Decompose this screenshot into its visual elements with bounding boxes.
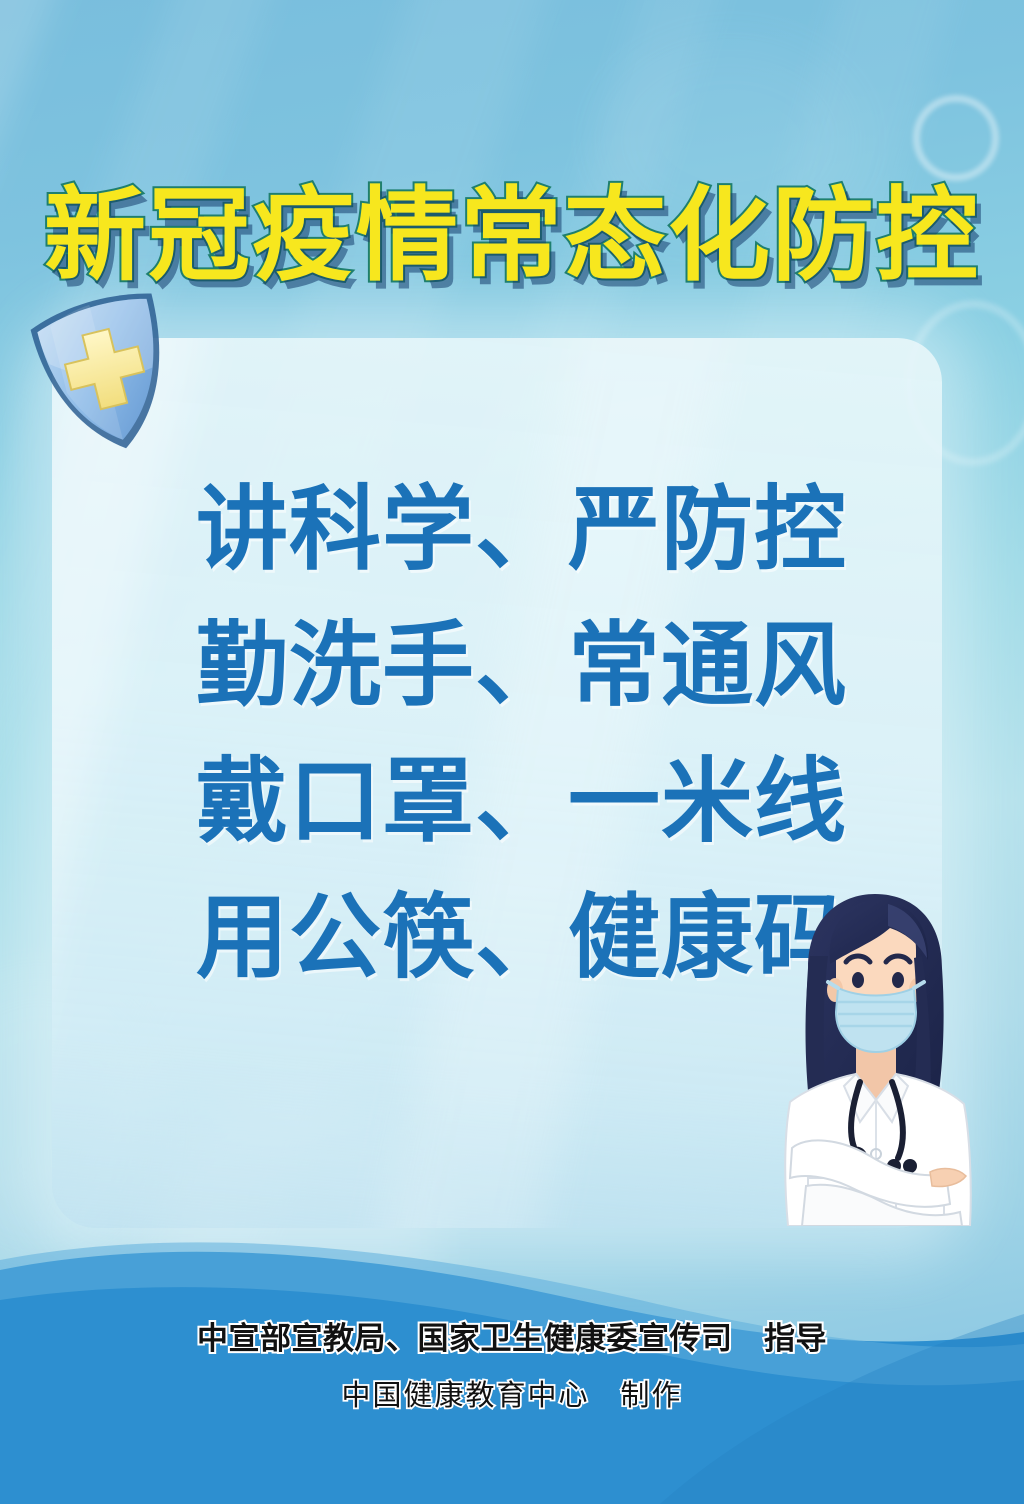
surgical-mask <box>836 988 916 1052</box>
slogan-line: 讲科学、严防控 <box>196 462 896 598</box>
footer: 中宣部宣教局、国家卫生健康委宣传司 指导 中国健康教育中心 制作 <box>0 1313 1024 1414</box>
eye-right <box>892 972 904 988</box>
page-title: 新冠疫情常态化防控 <box>0 182 1024 292</box>
eye-left <box>852 972 864 988</box>
health-poster: 新冠疫情常态化防控 讲科学、严防控 勤洗手、常通风 戴口罩、一米线 用公筷、健康… <box>0 0 1024 1504</box>
masked-female-doctor-illustration <box>770 886 990 1226</box>
footer-guidance-line: 中宣部宣教局、国家卫生健康委宣传司 指导 <box>0 1313 1024 1358</box>
slogan-line: 戴口罩、一米线 <box>196 734 896 870</box>
footer-producer-line: 中国健康教育中心 制作 <box>0 1372 1024 1414</box>
background-circle-icon <box>913 95 999 181</box>
slogan-line: 勤洗手、常通风 <box>196 598 896 734</box>
